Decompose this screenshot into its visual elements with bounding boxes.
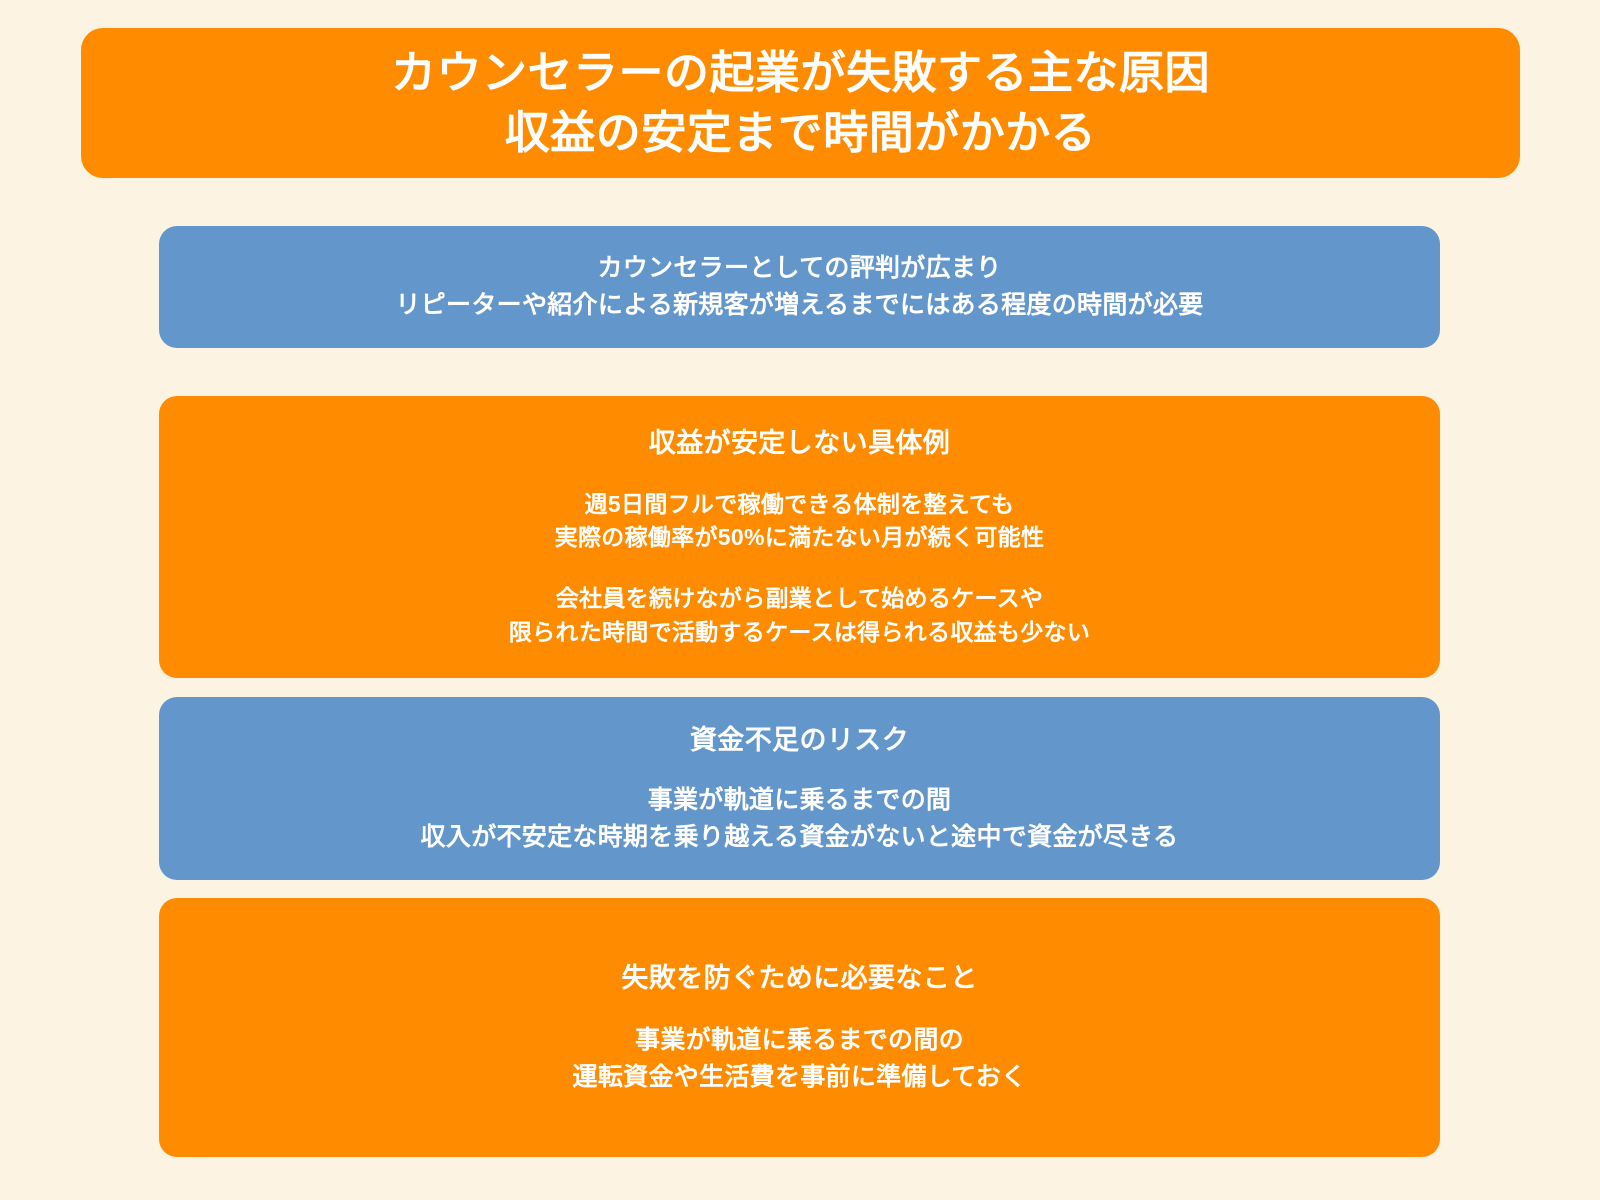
card-2-body-paragraph-2: 会社員を続けながら副業として始めるケースや 限られた時間で活動するケースは得られ… [509, 582, 1090, 649]
card-1-body-paragraph-1: カウンセラーとしての評判が広まり リピーターや紹介による新規客が増えるまでにはあ… [395, 250, 1203, 325]
card-3-body-paragraph-1: 事業が軌道に乗るまでの間 収入が不安定な時期を乗り越える資金がないと途中で資金が… [421, 782, 1179, 855]
card-3-heading: 資金不足のリスク [690, 722, 909, 758]
content-card-1: カウンセラーとしての評判が広まり リピーターや紹介による新規客が増えるまでにはあ… [159, 226, 1440, 348]
content-card-3: 資金不足のリスク 事業が軌道に乗るまでの間 収入が不安定な時期を乗り越える資金が… [159, 697, 1440, 880]
content-card-2: 収益が安定しない具体例 週5日間フルで稼働できる体制を整えても 実際の稼働率が5… [159, 396, 1440, 678]
card-2-heading: 収益が安定しない具体例 [649, 425, 950, 461]
page-title-line-1: カウンセラーの起業が失敗する主な原因 [391, 43, 1210, 103]
header-banner: カウンセラーの起業が失敗する主な原因 収益の安定まで時間がかかる [81, 28, 1520, 178]
slide-root: カウンセラーの起業が失敗する主な原因 収益の安定まで時間がかかる カウンセラーと… [0, 0, 1600, 1200]
card-2-body-paragraph-1: 週5日間フルで稼働できる体制を整えても 実際の稼働率が50%に満たない月が続く可… [555, 488, 1045, 555]
card-4-heading: 失敗を防ぐために必要なこと [621, 960, 977, 996]
card-4-body-paragraph-1: 事業が軌道に乗るまでの間の 運転資金や生活費を事前に準備しておく [573, 1022, 1027, 1095]
content-card-4: 失敗を防ぐために必要なこと 事業が軌道に乗るまでの間の 運転資金や生活費を事前に… [159, 898, 1440, 1157]
page-title-line-2: 収益の安定まで時間がかかる [505, 103, 1097, 163]
